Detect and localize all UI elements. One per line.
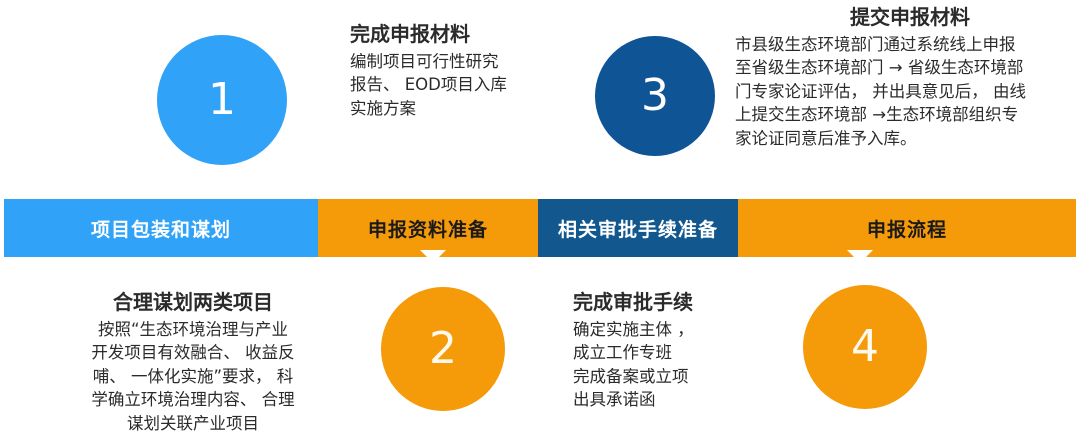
step-circle-4: 4 (803, 285, 927, 409)
bar-segment-approval-prep[interactable]: 相关审批手续准备 (538, 199, 738, 257)
pointer-up-segment-3-icon (637, 186, 663, 199)
step-text-block-3: 提交申报材料 市县级生态环境部门通过系统线上申报 至省级生态环境部门 → 省级生… (735, 5, 1075, 150)
flow-diagram-canvas: 1 完成申报材料 编制项目可行性研究 报告、 EOD项目入库 实施方案 3 提交… (0, 0, 1080, 444)
step-title-2: 合理谋划两类项目 (48, 290, 338, 315)
step-number-3: 3 (641, 74, 669, 118)
bar-segment-material-prep[interactable]: 申报资料准备 (318, 199, 538, 257)
step-body-2: 按照“生态环境治理与产业 开发项目有效融合、 收益反 哺、 一体化实施”要求， … (48, 318, 338, 435)
bar-segment-label-3: 相关审批手续准备 (558, 215, 718, 242)
step-circle-3: 3 (595, 36, 715, 156)
step-number-4: 4 (851, 325, 879, 369)
step-text-block-4: 完成审批手续 确定实施主体 ， 成立工作专班 完成备案或立项 出具承诺函 (573, 290, 788, 412)
pointer-up-segment-1-icon (222, 186, 248, 199)
step-number-1: 1 (208, 78, 236, 122)
pointer-down-segment-2-icon (420, 250, 446, 263)
step-text-block-1: 完成申报材料 编制项目可行性研究 报告、 EOD项目入库 实施方案 (350, 22, 550, 120)
step-text-block-2: 合理谋划两类项目 按照“生态环境治理与产业 开发项目有效融合、 收益反 哺、 一… (48, 290, 338, 435)
step-body-3: 市县级生态环境部门通过系统线上申报 至省级生态环境部门 → 省级生态环境部 门专… (735, 33, 1075, 150)
bar-segment-label-4: 申报流程 (867, 215, 947, 242)
step-title-1: 完成申报材料 (350, 22, 550, 47)
bar-segment-project-packaging[interactable]: 项目包装和谋划 (4, 199, 318, 257)
step-circle-1: 1 (157, 35, 287, 165)
bar-segment-label-1: 项目包装和谋划 (91, 215, 231, 242)
step-body-4: 确定实施主体 ， 成立工作专班 完成备案或立项 出具承诺函 (573, 318, 788, 412)
process-bar: 项目包装和谋划 申报资料准备 相关审批手续准备 申报流程 (4, 199, 1076, 257)
bar-segment-application-flow[interactable]: 申报流程 (738, 199, 1076, 257)
bar-segment-label-2: 申报资料准备 (368, 215, 488, 242)
step-body-1: 编制项目可行性研究 报告、 EOD项目入库 实施方案 (350, 50, 550, 120)
step-title-3: 提交申报材料 (735, 5, 1075, 30)
pointer-down-segment-4-icon (847, 250, 873, 263)
step-number-2: 2 (429, 327, 457, 371)
step-title-4: 完成审批手续 (573, 290, 788, 315)
step-circle-2: 2 (381, 287, 505, 411)
